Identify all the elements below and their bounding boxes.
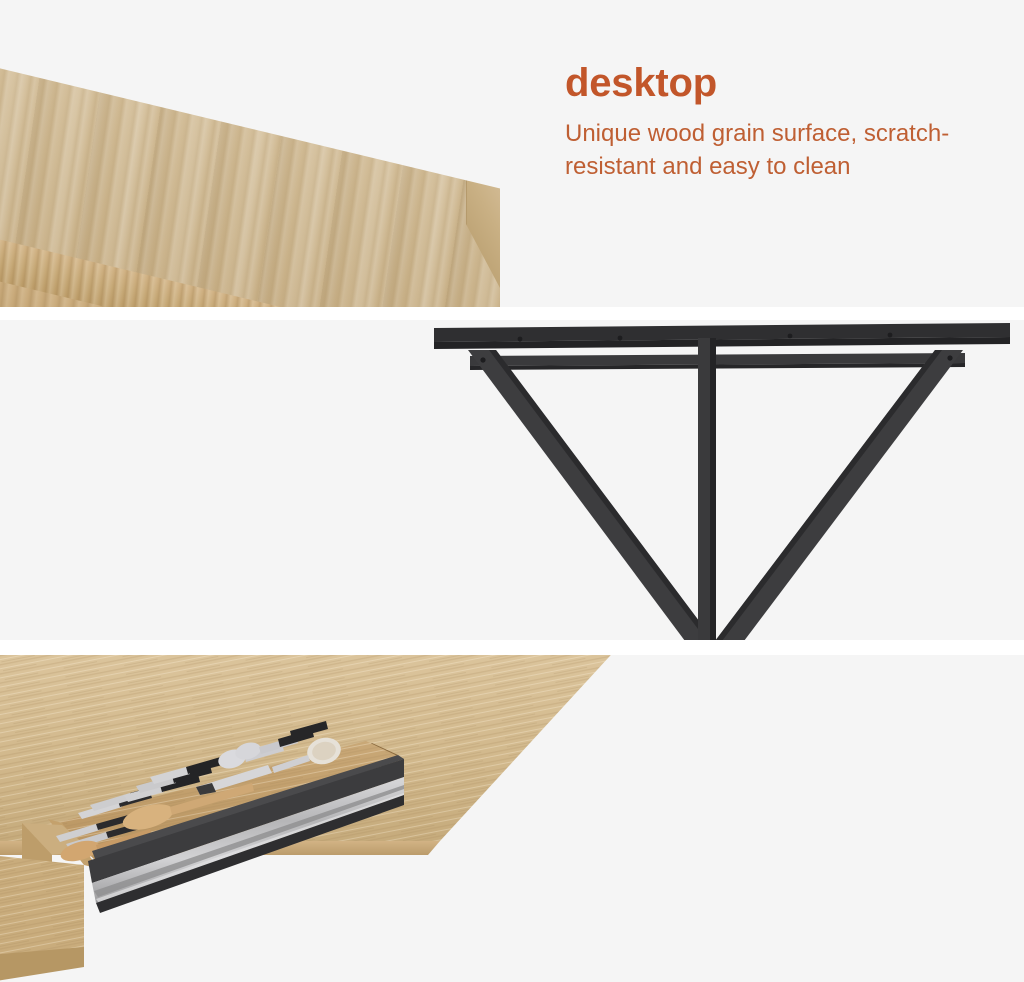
- desktop-description: Unique wood grain surface, scratch-resis…: [565, 118, 965, 183]
- storage-product-image: [0, 655, 1024, 982]
- product-feature-infographic: desktop Unique wood grain surface, scrat…: [0, 0, 1024, 982]
- feature-panel-leg: leg of a table Stable metal support stru…: [0, 320, 1024, 640]
- desktop-heading: desktop: [565, 62, 965, 104]
- desktop-caption: desktop Unique wood grain surface, scrat…: [565, 62, 965, 183]
- storage-left-panel: [0, 855, 84, 982]
- feature-panel-desktop: desktop Unique wood grain surface, scrat…: [0, 0, 1024, 307]
- leg-center-post: [696, 338, 717, 640]
- table-leg-product-image: [0, 320, 1024, 640]
- feature-panel-storage: Storage box Convenient storage box: [0, 655, 1024, 982]
